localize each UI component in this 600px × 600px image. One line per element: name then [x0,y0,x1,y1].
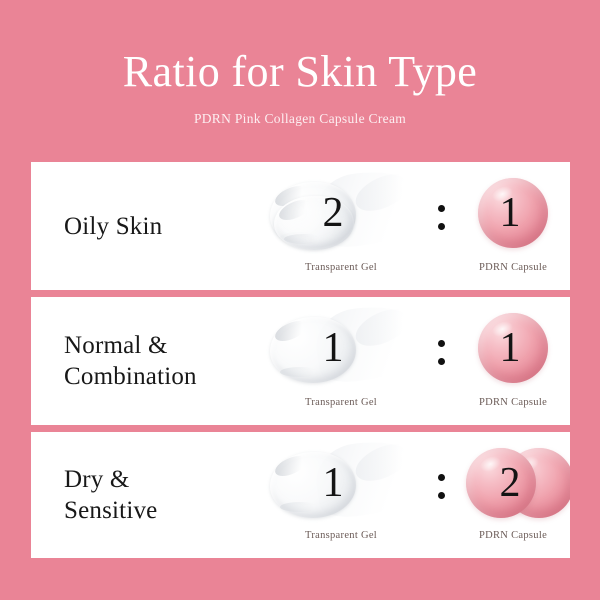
skin-type-label-line: Combination [64,361,279,392]
colon-dot-bottom [438,223,445,230]
capsule-caption: PDRN Capsule [456,529,570,542]
ratio-colon [427,297,455,425]
gel-caption: Transparent Gel [256,261,426,274]
ingredient-pdrn-capsule: 1 PDRN Capsule [456,162,570,290]
skin-type-label: Dry & Sensitive [64,432,279,558]
ingredient-transparent-gel: 1 Transparent Gel [256,297,426,425]
skin-type-label: Oily Skin [64,162,279,290]
gel-caption: Transparent Gel [256,529,426,542]
ratio-row-card: Dry & Sensitive 1 Transparent Gel [31,432,570,558]
ingredient-transparent-gel: 1 Transparent Gel [256,432,426,558]
colon-dot-top [438,205,445,212]
ratio-colon [427,432,455,558]
ratio-area: 2 Transparent Gel 1 PDRN Capsule [256,162,570,290]
ratio-colon [427,162,455,290]
skin-type-label-line: Dry & [64,464,279,495]
header: Ratio for Skin Type PDRN Pink Collagen C… [0,0,600,162]
ratio-row-card: Normal & Combination 1 Transparent Gel [31,297,570,425]
skin-type-label-line: Sensitive [64,495,279,526]
skin-type-label: Normal & Combination [64,297,279,425]
gel-caption: Transparent Gel [256,396,426,409]
infographic-page: Ratio for Skin Type PDRN Pink Collagen C… [0,0,600,600]
page-subtitle: PDRN Pink Collagen Capsule Cream [0,110,600,128]
ingredient-pdrn-capsule: 2 PDRN Capsule [456,432,570,558]
ratio-area: 1 Transparent Gel 1 PDRN Capsule [256,297,570,425]
gel-ratio-number: 2 [248,170,418,256]
page-title: Ratio for Skin Type [0,46,600,98]
capsule-ratio-number: 1 [453,305,567,391]
capsule-caption: PDRN Capsule [456,396,570,409]
colon-dot-bottom [438,492,445,499]
gel-ratio-number: 1 [248,440,418,526]
gel-ratio-number: 1 [248,305,418,391]
capsule-ratio-number: 2 [453,440,567,526]
colon-dot-top [438,474,445,481]
skin-type-label-line: Oily Skin [64,211,279,242]
capsule-ratio-number: 1 [453,170,567,256]
ingredient-pdrn-capsule: 1 PDRN Capsule [456,297,570,425]
ratio-area: 1 Transparent Gel 2 PDRN Capsule [256,432,570,558]
colon-dot-top [438,340,445,347]
skin-type-label-line: Normal & [64,330,279,361]
capsule-caption: PDRN Capsule [456,261,570,274]
ingredient-transparent-gel: 2 Transparent Gel [256,162,426,290]
ratio-row-card: Oily Skin 2 Transparent Gel [31,162,570,290]
colon-dot-bottom [438,358,445,365]
